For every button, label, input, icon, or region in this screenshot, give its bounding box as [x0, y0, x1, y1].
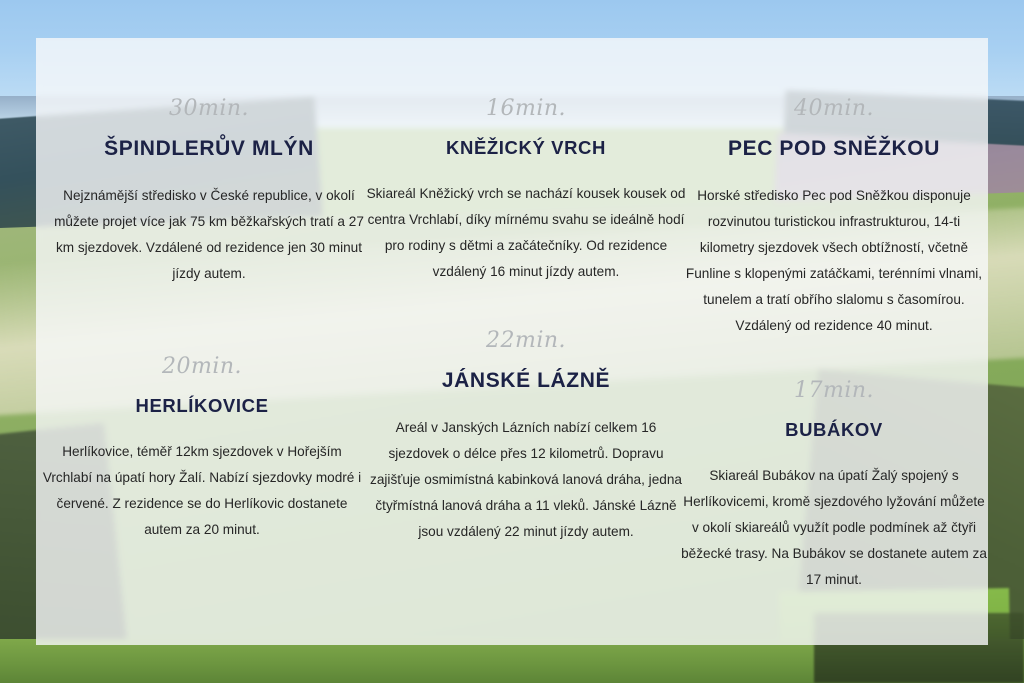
resort-description: Herlíkovice, téměř 12km sjezdovek v Hoře… [36, 439, 368, 543]
resorts-grid: 30min. ŠPINDLERŮV MLÝN Nejznámější střed… [36, 38, 988, 645]
resort-description: Horské středisko Pec pod Sněžkou disponu… [680, 183, 988, 340]
resort-duration-label: 40min. [680, 96, 988, 121]
resort-card-bubakov: 17min. BUBÁKOV Skiareál Bubákov na úpatí… [680, 378, 988, 593]
resort-description: Skiareál Bubákov na úpatí Žalý spojený s… [680, 463, 988, 593]
resort-card-knezicky-vrch: 16min. KNĚŽICKÝ VRCH Skiareál Kněžický v… [366, 96, 686, 285]
resort-description: Nejznámější středisko v České republice,… [44, 183, 374, 287]
resort-card-spindleruv-mlyn: 30min. ŠPINDLERŮV MLÝN Nejznámější střed… [44, 96, 374, 287]
resort-duration-label: 17min. [680, 378, 988, 403]
resort-card-herlikovice: 20min. HERLÍKOVICE Herlíkovice, téměř 12… [36, 354, 368, 543]
resort-name-heading: ŠPINDLERŮV MLÝN [44, 137, 374, 161]
resort-description: Areál v Janských Lázních nabízí celkem 1… [366, 415, 686, 545]
resort-duration-label: 16min. [366, 96, 686, 121]
resort-name-heading: JÁNSKÉ LÁZNĚ [366, 369, 686, 393]
resort-duration-label: 30min. [44, 96, 374, 121]
resort-name-heading: PEC POD SNĚŽKOU [680, 137, 988, 161]
resort-description: Skiareál Kněžický vrch se nachází kousek… [366, 181, 686, 285]
resort-duration-label: 20min. [36, 354, 368, 379]
resort-name-heading: KNĚŽICKÝ VRCH [366, 137, 686, 159]
resort-card-janske-lazne: 22min. JÁNSKÉ LÁZNĚ Areál v Janských Láz… [366, 328, 686, 545]
resort-name-heading: HERLÍKOVICE [36, 395, 368, 417]
resort-card-pec-pod-snezkou: 40min. PEC POD SNĚŽKOU Horské středisko … [680, 96, 988, 340]
resort-name-heading: BUBÁKOV [680, 419, 988, 441]
resort-duration-label: 22min. [366, 328, 686, 353]
resorts-overlay-panel: 30min. ŠPINDLERŮV MLÝN Nejznámější střed… [36, 38, 988, 645]
